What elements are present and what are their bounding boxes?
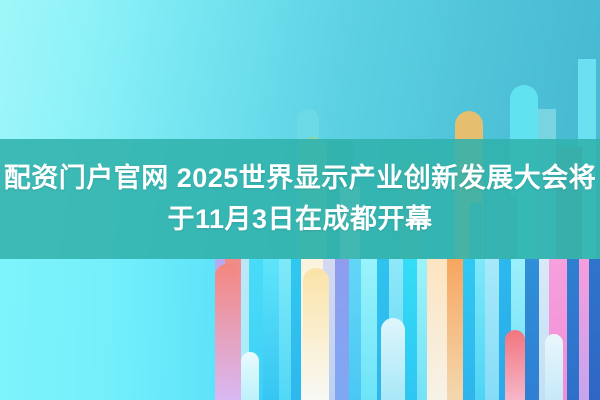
accent-red-right [505,330,525,400]
accent-pale-right [545,334,563,400]
headline-line-2: 于11月3日在成都开幕 [167,199,432,240]
accent-pink-left [215,264,239,400]
accent-white-left [241,352,259,400]
banner-image: 配资门户官网 2025世界显示产业创新发展大会将 于11月3日在成都开幕 [0,0,600,400]
headline-line-1: 配资门户官网 2025世界显示产业创新发展大会将 [4,158,597,199]
headline-band: 配资门户官网 2025世界显示产业创新发展大会将 于11月3日在成都开幕 [0,139,600,259]
accent-white-mid [381,318,405,400]
accent-cream-mid [303,268,329,400]
